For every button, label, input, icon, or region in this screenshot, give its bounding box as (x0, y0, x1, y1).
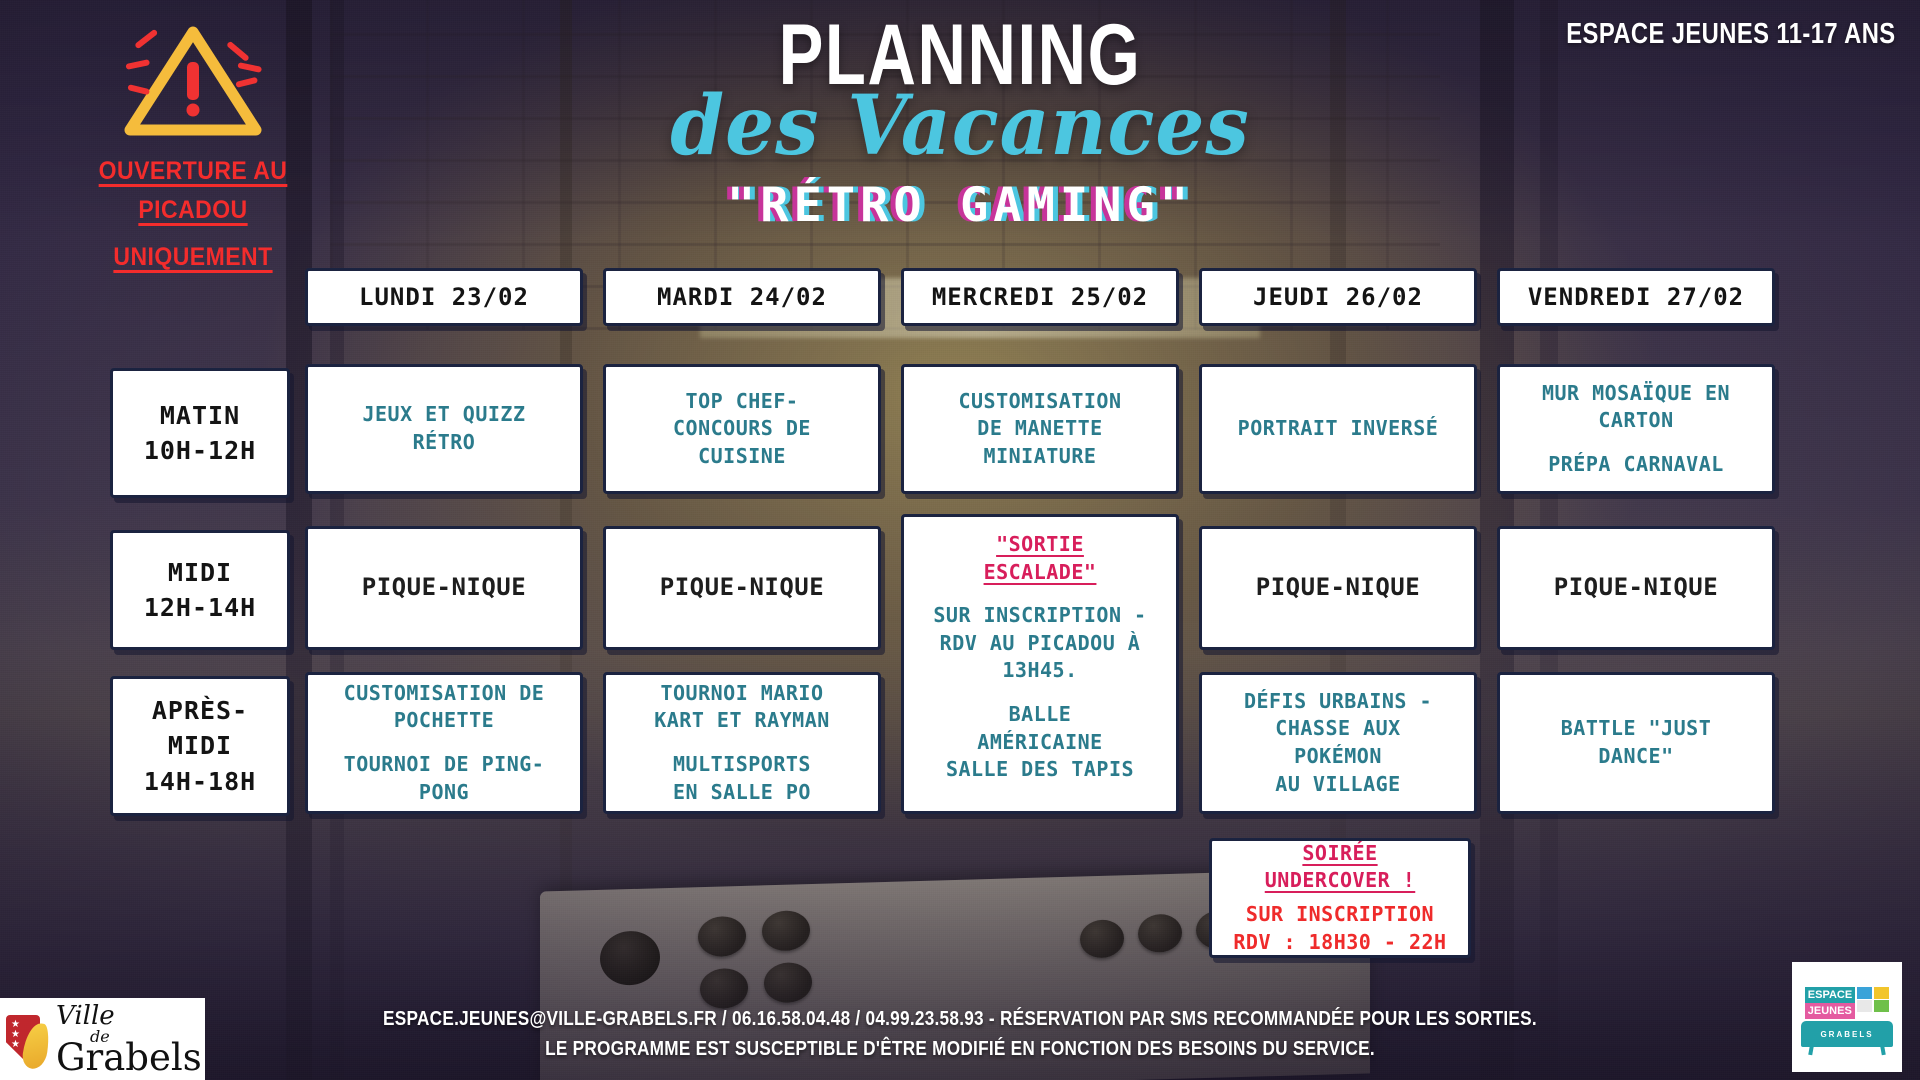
logo-youth-line-2: JEUNES (1805, 1003, 1855, 1019)
day-header-label: JEUDI 26/02 (1253, 283, 1423, 311)
day-header-label: LUNDI 23/02 (359, 283, 529, 311)
swatch-green (1874, 1000, 1889, 1012)
slot-hours: 12H-14H (144, 590, 256, 626)
activity-text: BATTLE "JUSTDANCE" (1561, 715, 1712, 770)
activity-text: PIQUE-NIQUE (660, 571, 824, 604)
activity-text-secondary: BALLEAMÉRICAINESALLE DES TAPIS (946, 701, 1134, 784)
logo-ville-de-grabels: ★★★ Ville de Grabels (0, 998, 205, 1080)
activity-text: CUSTOMISATIONDE MANETTEMINIATURE (958, 388, 1121, 471)
activity-text: JEUX ET QUIZZRÉTRO (362, 401, 525, 456)
shield-icon: ★★★ (6, 1011, 52, 1067)
activity-apresmidi-jeudi: DÉFIS URBAINS -CHASSE AUXPOKÉMONAU VILLA… (1199, 672, 1477, 814)
activity-matin-mardi: TOP CHEF-CONCOURS DECUISINE (603, 364, 881, 494)
slot-name: MIDI (168, 555, 232, 591)
couch-icon: GRABELS (1801, 1021, 1893, 1047)
day-header-mercredi: MERCREDI 25/02 (901, 268, 1179, 326)
day-header-mardi: MARDI 24/02 (603, 268, 881, 326)
activity-matin-vendredi: MUR MOSAÏQUE ENCARTON PRÉPA CARNAVAL (1497, 364, 1775, 494)
slot-name: MATIN (160, 398, 240, 434)
day-header-jeudi: JEUDI 26/02 (1199, 268, 1477, 326)
logo-youth-swatches-2 (1874, 987, 1889, 1019)
evening-event-card: SOIRÉEUNDERCOVER ! SUR INSCRIPTIONRDV : … (1209, 838, 1471, 958)
activity-text-secondary: PRÉPA CARNAVAL (1548, 451, 1724, 479)
slot-name: APRÈS-MIDI (152, 693, 248, 764)
activity-text: SUR INSCRIPTION -RDV AU PICADOU À13H45. (933, 602, 1146, 685)
activity-text: TOP CHEF-CONCOURS DECUISINE (673, 388, 811, 471)
activity-matin-lundi: JEUX ET QUIZZRÉTRO (305, 364, 583, 494)
activity-apresmidi-mardi: TOURNOI MARIOKART ET RAYMAN MULTISPORTSE… (603, 672, 881, 814)
swatch-white (1857, 1000, 1872, 1012)
warning-line-2: UNIQUEMENT (60, 238, 327, 277)
day-header-label: MARDI 24/02 (657, 283, 827, 311)
activity-apresmidi-vendredi: BATTLE "JUSTDANCE" (1497, 672, 1775, 814)
day-header-label: VENDREDI 27/02 (1528, 283, 1744, 311)
activity-text: PIQUE-NIQUE (1554, 571, 1718, 604)
activity-text: PORTRAIT INVERSÉ (1238, 415, 1439, 443)
activity-text: PIQUE-NIQUE (1256, 571, 1420, 604)
activity-midi-mercredi: "SORTIEESCALADE" SUR INSCRIPTION -RDV AU… (901, 514, 1179, 814)
activity-apresmidi-lundi: CUSTOMISATION DEPOCHETTE TOURNOI DE PING… (305, 672, 583, 814)
slot-label-midi: MIDI 12H-14H (110, 530, 290, 650)
slot-label-matin: MATIN 10H-12H (110, 368, 290, 498)
logo-youth-words: ESPACE JEUNES (1805, 987, 1855, 1019)
swatch-blue (1857, 987, 1872, 999)
logo-city-text: Ville de Grabels (56, 1003, 202, 1076)
activity-text-secondary: TOURNOI DE PING-PONG (344, 751, 545, 806)
logo-youth-swatches (1857, 987, 1872, 1019)
activity-midi-lundi: PIQUE-NIQUE (305, 526, 583, 650)
slot-label-apres-midi: APRÈS-MIDI 14H-18H (110, 676, 290, 816)
day-header-lundi: LUNDI 23/02 (305, 268, 583, 326)
evening-event-title: SOIRÉEUNDERCOVER ! (1265, 840, 1416, 895)
activity-text: CUSTOMISATION DEPOCHETTE (344, 680, 545, 735)
activity-title-highlight: "SORTIEESCALADE" (984, 531, 1097, 586)
activity-midi-jeudi: PIQUE-NIQUE (1199, 526, 1477, 650)
logo-city-line-3: Grabels (56, 1039, 202, 1076)
activity-matin-mercredi: CUSTOMISATIONDE MANETTEMINIATURE (901, 364, 1179, 494)
evening-event-details: SUR INSCRIPTIONRDV : 18H30 - 22H (1233, 901, 1446, 956)
footer-contact: ESPACE.JEUNES@VILLE-GRABELS.FR / 06.16.5… (134, 1004, 1785, 1064)
activity-matin-jeudi: PORTRAIT INVERSÉ (1199, 364, 1477, 494)
logo-espace-jeunes: ESPACE JEUNES GRABELS (1792, 962, 1902, 1072)
activity-midi-mardi: PIQUE-NIQUE (603, 526, 881, 650)
logo-city-line-1: Ville (56, 1003, 202, 1029)
activity-text: MUR MOSAÏQUE ENCARTON (1542, 380, 1730, 435)
activity-text-secondary: MULTISPORTSEN SALLE PO (673, 751, 811, 806)
swatch-yellow (1874, 987, 1889, 999)
day-header-vendredi: VENDREDI 27/02 (1497, 268, 1775, 326)
logo-youth-inner: ESPACE JEUNES GRABELS (1801, 987, 1893, 1047)
footer-line-1: ESPACE.JEUNES@VILLE-GRABELS.FR / 06.16.5… (134, 1004, 1785, 1034)
activity-text: DÉFIS URBAINS -CHASSE AUXPOKÉMONAU VILLA… (1244, 688, 1432, 798)
page-subtitle-theme: "RÉTRO GAMING" (0, 178, 1920, 233)
activity-midi-vendredi: PIQUE-NIQUE (1497, 526, 1775, 650)
activity-text: TOURNOI MARIOKART ET RAYMAN (654, 680, 830, 735)
stars-icon: ★★★ (11, 1020, 20, 1050)
day-header-label: MERCREDI 25/02 (932, 283, 1148, 311)
logo-youth-line-1: ESPACE (1805, 987, 1855, 1003)
slot-hours: 14H-18H (144, 764, 256, 800)
activity-text: PIQUE-NIQUE (362, 571, 526, 604)
logo-youth-line-3: GRABELS (1820, 1030, 1873, 1039)
page-title-vacances: des Vacances (58, 78, 1863, 174)
footer-line-2: LE PROGRAMME EST SUSCEPTIBLE D'ÊTRE MODI… (134, 1034, 1785, 1064)
logo-youth-blocks: ESPACE JEUNES (1801, 987, 1893, 1019)
slot-hours: 10H-12H (144, 433, 256, 469)
